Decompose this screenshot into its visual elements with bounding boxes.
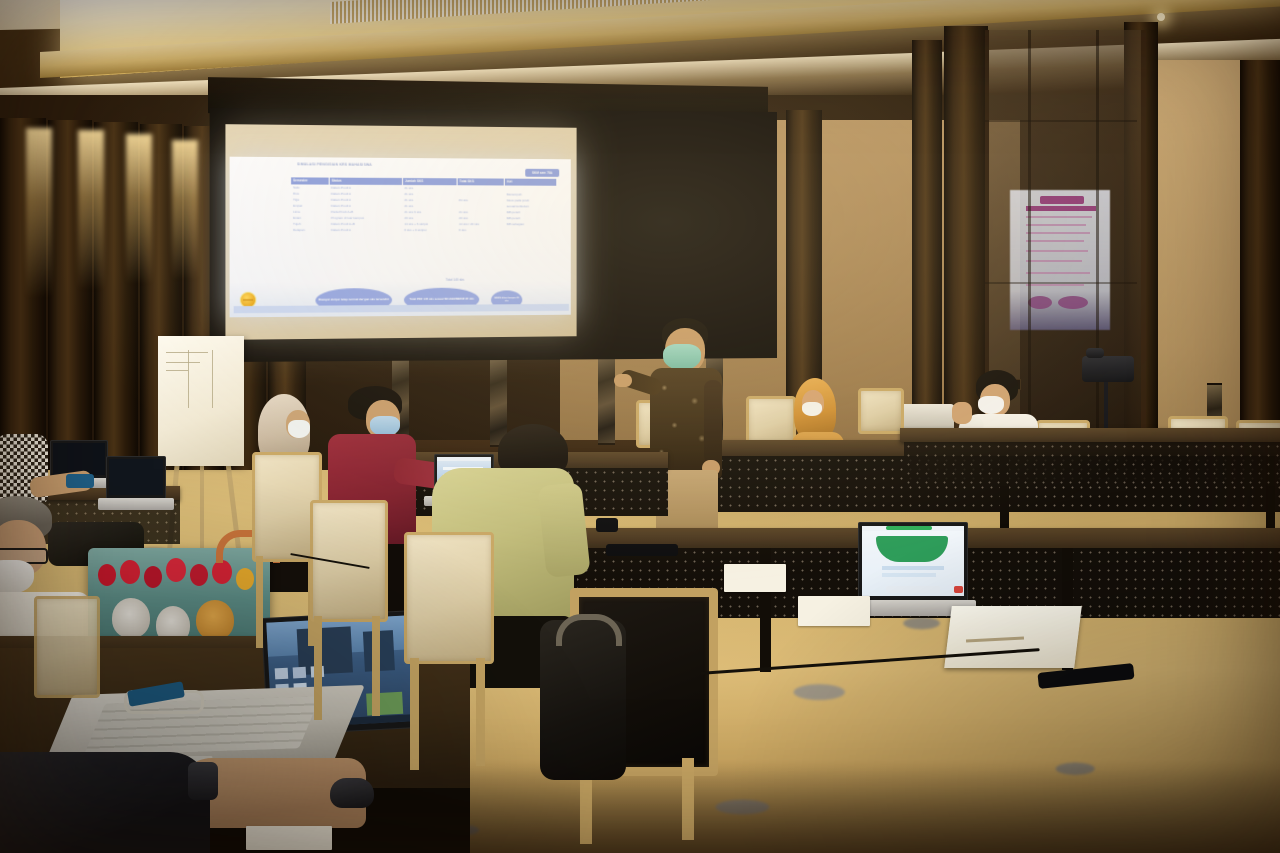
cell-semester: Delapan — [291, 227, 329, 233]
reflected-table-row — [1026, 240, 1084, 242]
training-table-top — [900, 428, 1280, 442]
flipchart-note-line — [212, 350, 213, 408]
reflected-table-row — [1026, 250, 1088, 252]
chair-leg — [372, 616, 380, 716]
tote-flower — [144, 566, 162, 588]
glass-horizontal-joint — [985, 282, 1137, 284]
chair-leg — [682, 758, 694, 840]
chair-leg — [314, 616, 322, 720]
wall-wash-light — [126, 134, 152, 284]
face-mask — [370, 416, 400, 436]
camcorder-viewfinder — [1086, 348, 1104, 358]
hand — [614, 374, 632, 387]
left-laptop-2[interactable] — [106, 456, 166, 502]
reflected-table-row — [1026, 272, 1090, 274]
wristwatch — [188, 762, 218, 800]
face-mask — [663, 344, 701, 370]
flipchart-note-line — [166, 362, 200, 363]
reflected-table-row — [1026, 232, 1090, 234]
slide-total-row: Total 145 sks — [446, 278, 464, 282]
reflected-table-row — [1026, 284, 1084, 286]
laptop-keyboard-base[interactable] — [98, 498, 174, 510]
tote-flower — [166, 558, 186, 582]
arm-right — [704, 380, 722, 464]
chair-leg — [410, 658, 419, 770]
training-table-modesty-panel — [904, 442, 1280, 486]
reflected-table-row — [1026, 216, 1092, 218]
reflected-table-header — [1026, 206, 1096, 211]
reflected-table-row — [1026, 224, 1086, 226]
tote-cat-motif — [112, 598, 150, 638]
glass-mullion — [1028, 30, 1031, 440]
videocall-green-banner — [886, 526, 932, 530]
meeting-room-photo: SIMULASI PENGISIAN KRS MAHASISWA SKM sem… — [0, 0, 1280, 853]
flipchart-leg — [200, 462, 204, 562]
video-call-laptop[interactable] — [858, 522, 968, 606]
hand — [952, 402, 972, 424]
reflected-callout — [1028, 296, 1052, 309]
flipchart-note-line — [166, 352, 208, 353]
reflected-callout — [1058, 296, 1088, 309]
chair-backrest — [34, 596, 100, 698]
wall-scroll-art — [490, 355, 507, 447]
remote-control[interactable] — [606, 544, 678, 556]
doc-window-titlebar — [437, 457, 491, 461]
flipchart-pad — [158, 336, 244, 466]
wall-wash-light — [172, 140, 198, 280]
slide-table: Semester Status Jumlah SKS Total SKS Ket… — [291, 177, 557, 232]
glass-horizontal-joint — [985, 120, 1137, 122]
chair-leg — [256, 556, 263, 648]
flipchart-note-line — [188, 350, 189, 408]
tote-flower — [212, 560, 232, 584]
projected-slide: SIMULASI PENGISIAN KRS MAHASISWA SKM sem… — [234, 159, 569, 314]
flipchart-note-line — [166, 370, 188, 371]
laptop-display — [109, 459, 163, 495]
laptop-display — [862, 526, 964, 596]
chair-leg — [476, 658, 485, 766]
face-mask — [288, 420, 310, 438]
slide-badge: SKM sem 75A — [525, 169, 559, 177]
laptop-display — [53, 443, 105, 475]
videocall-toolbar[interactable] — [886, 586, 940, 593]
wall-wash-light — [26, 128, 52, 298]
cell-jumlah: 6 sks + 0 skripsi — [402, 227, 457, 233]
name-card — [724, 564, 786, 592]
chair-backrest — [858, 388, 904, 434]
cell-ket — [505, 227, 557, 233]
video-camcorder — [1082, 356, 1134, 382]
videocall-avatar-panel — [876, 536, 948, 562]
ceiling-downlight — [1157, 13, 1165, 21]
videocall-text-line — [882, 566, 944, 570]
wall-scroll-art — [598, 353, 615, 445]
foreground-sleeve — [0, 752, 210, 853]
chair-backrest — [404, 532, 494, 664]
desktop-icon[interactable] — [293, 667, 307, 679]
name-card — [246, 826, 332, 850]
tote-flower — [98, 564, 116, 586]
slide-title: SIMULASI PENGISIAN KRS MAHASISWA — [297, 162, 372, 167]
videocall-end-button[interactable] — [954, 586, 963, 593]
cell-status: Dalam Prodi A — [329, 227, 402, 233]
arm — [537, 482, 590, 578]
reflected-table-row — [1026, 260, 1082, 262]
backpack-strap — [556, 614, 622, 646]
face-mask — [978, 396, 1004, 414]
desktop-icon[interactable] — [275, 668, 289, 680]
tote-flower — [190, 564, 208, 586]
cell-total: 6 sks — [457, 227, 505, 233]
tote-cat-motif — [196, 600, 234, 640]
name-card — [798, 596, 870, 626]
face-mask — [802, 402, 822, 416]
tote-flower — [236, 568, 254, 590]
tote-flower — [120, 560, 140, 584]
computer-mouse[interactable] — [330, 778, 374, 808]
table-row: DelapanDalam Prodi A6 sks + 0 skripsi6 s… — [291, 227, 557, 233]
reflected-slide-badge — [1040, 196, 1084, 204]
videocall-text-line — [882, 573, 936, 577]
chair-backrest — [310, 500, 388, 622]
wall-wash-light — [78, 130, 104, 290]
smartphone[interactable] — [66, 474, 94, 488]
smartphone[interactable] — [596, 518, 618, 532]
